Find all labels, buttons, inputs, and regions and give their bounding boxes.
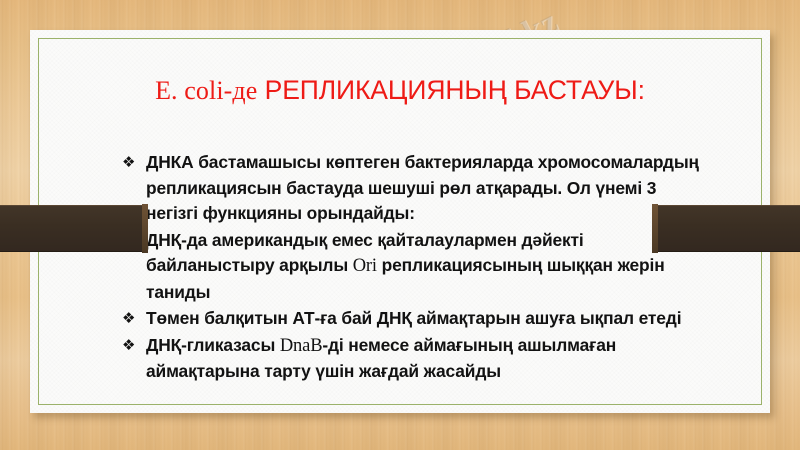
bullet-text-segment: ДНҚ-гликазасы	[146, 335, 280, 355]
bullet-text-segment: ДНКА бастамашысы көптеген бактерияларда …	[146, 152, 699, 223]
left-decorative-bar	[0, 205, 148, 252]
left-bar-cap	[142, 204, 148, 253]
bullet-text-segment: Ori	[353, 256, 377, 276]
bullet-item: ❖ДНКА бастамашысы көптеген бактерияларда…	[122, 150, 702, 227]
slide-title-main: РЕПЛИКАЦИЯНЫҢ БАСТАУЫ:	[257, 75, 645, 105]
right-bar-cap	[652, 204, 658, 253]
bullet-diamond-icon: ❖	[122, 150, 135, 176]
slide-title: E. coli-де РЕПЛИКАЦИЯНЫҢ БАСТАУЫ:	[40, 76, 760, 106]
bullet-diamond-icon: ❖	[122, 306, 135, 332]
bullet-item: ❖ДНҚ-да американдық емес қайталаулармен …	[122, 228, 702, 306]
presentation-slide: Stud.kz - Stud.kz Stud.kz Stud.kz Stud.k…	[0, 0, 800, 450]
bullet-diamond-icon: ❖	[122, 333, 135, 359]
bullet-list: ❖ДНКА бастамашысы көптеген бактерияларда…	[122, 150, 702, 386]
bullet-text-segment: Төмен балқитын АТ-ға бай ДНҚ аймақтарын …	[146, 308, 681, 328]
bullet-item: ❖Төмен балқитын АТ-ға бай ДНҚ аймақтарын…	[122, 306, 702, 332]
bullet-text-segment: DnaB	[280, 336, 323, 356]
slide-title-organism: E. coli-де	[155, 76, 257, 105]
bullet-item: ❖ДНҚ-гликазасы DnaB-ді немесе аймағының …	[122, 333, 702, 385]
right-decorative-bar	[652, 205, 800, 252]
